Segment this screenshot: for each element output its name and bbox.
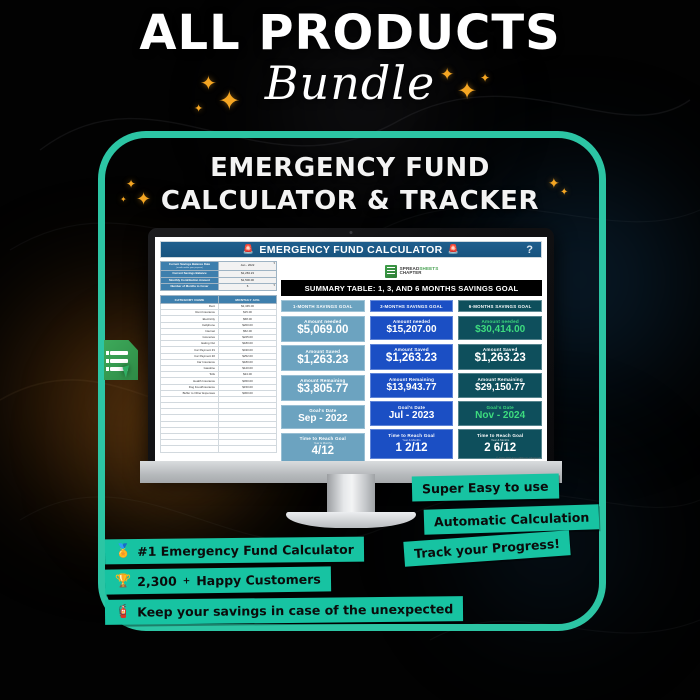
- summary-metric-cell: Amount Saved$1,263.23: [370, 344, 454, 370]
- sheets-document-icon: [104, 340, 138, 380]
- category-header-name: CATEGORY NAME: [161, 296, 219, 304]
- summary-column: SPREADSHEETS CHAPTER SUMMARY TABLE: 1, 3…: [281, 261, 542, 462]
- badge-plus-sign: +: [183, 576, 191, 586]
- summary-metric-subcaption: Year & Months: [371, 438, 453, 442]
- logo-line2: CHAPTER: [400, 271, 439, 275]
- balance-label: Monthly Contribution Amount: [161, 277, 219, 284]
- brand-logo-text: SPREADSHEETS CHAPTER: [400, 267, 439, 276]
- siren-icon: 🚨: [243, 244, 255, 255]
- hero-script-word: Bundle: [0, 56, 700, 110]
- balance-row: Current Savings Balance$1,263.23: [161, 271, 277, 278]
- monitor-screen: 🚨 EMERGENCY FUND CALCULATOR 🚨 ? Current …: [155, 237, 547, 462]
- balance-value[interactable]: $1,500.00: [219, 277, 277, 284]
- poster-canvas: ALL PRODUCTS Bundle ✦ ✦ ✦ ✦ ✦ ✦ EMERGENC…: [0, 0, 700, 700]
- badge-label: Track your Progress!: [414, 536, 561, 561]
- summary-card-heading: 3-MONTHS SAVINGS GOAL: [370, 300, 454, 312]
- balance-input-panel: Current Savings Balance Date(month and/o…: [160, 261, 277, 291]
- badge-super-easy: Super Easy to use: [412, 473, 559, 501]
- summary-metric-value: $15,207.00: [371, 324, 453, 336]
- summary-metric-value: Jul - 2023: [371, 410, 453, 422]
- summary-metric-value: 2 6/12: [459, 442, 541, 455]
- summary-metric-cell: Time to Reach GoalYear & Months4/12: [281, 433, 365, 462]
- spreadsheet-body: Current Savings Balance Date(month and/o…: [155, 261, 547, 462]
- balance-label-sub: (month and/or year purpose): [162, 267, 217, 270]
- summary-metric-cell: Amount needed$15,207.00: [370, 316, 454, 341]
- summary-metric-cell: Amount Saved$1,263.23: [458, 344, 542, 370]
- summary-metric-cell: Goal's DateJul - 2023: [370, 401, 454, 426]
- logo-line1b: SHEETS: [419, 266, 438, 271]
- summary-card-heading: 6-MONTHS SAVINGS GOAL: [458, 300, 542, 312]
- summary-metric-value: $3,805.77: [282, 383, 364, 396]
- badge-label: #1 Emergency Fund Calculator: [137, 542, 354, 559]
- trophy-icon: 🏆: [115, 574, 131, 589]
- badge-customer-count: 2,300: [137, 574, 177, 590]
- summary-metric-value: $5,069.00: [282, 324, 364, 337]
- badge-keep-savings: 🧯 Keep your savings in case of the unexp…: [105, 596, 464, 625]
- product-title-line1: EMERGENCY FUND: [0, 152, 700, 185]
- summary-metric-value: $1,263.23: [371, 352, 453, 365]
- product-title: EMERGENCY FUND CALCULATOR & TRACKER: [0, 152, 700, 217]
- category-table: CATEGORY NAME MONTHLY AVG Rent$2,345.00R…: [160, 295, 277, 453]
- balance-label: Current Savings Balance: [161, 271, 219, 278]
- summary-metric-value: Nov - 2024: [459, 410, 541, 422]
- summary-metric-subcaption: Year & Months: [459, 438, 541, 442]
- summary-metric-value: $13,943.77: [371, 382, 453, 394]
- summary-card-column: 1-MONTH SAVINGS GOALAmount needed$5,069.…: [281, 300, 365, 462]
- brand-logo: SPREADSHEETS CHAPTER: [281, 262, 542, 280]
- summary-metric-value: $1,263.23: [459, 352, 541, 365]
- category-header-amount: MONTHLY AVG: [219, 296, 277, 304]
- summary-metric-cell: Goal's DateNov - 2024: [458, 401, 542, 426]
- summary-metric-cell: Amount needed$30,414.00: [458, 316, 542, 341]
- siren-icon: 🚨: [448, 244, 460, 255]
- help-button[interactable]: ?: [526, 244, 533, 256]
- summary-card-column: 3-MONTHS SAVINGS GOALAmount needed$15,20…: [370, 300, 454, 462]
- badge-label: Super Easy to use: [422, 479, 549, 497]
- monitor-mockup: 🚨 EMERGENCY FUND CALCULATOR 🚨 ? Current …: [148, 228, 554, 474]
- balance-label: Number of Months to Cover: [161, 284, 219, 291]
- badge-label: Happy Customers: [196, 572, 321, 589]
- summary-metric-cell: Amount Remaining$13,943.77: [370, 373, 454, 398]
- summary-cards-grid: 1-MONTH SAVINGS GOALAmount needed$5,069.…: [281, 300, 542, 462]
- summary-metric-cell: Time to Reach GoalYear & Months1 2/12: [370, 429, 454, 459]
- balance-value-select[interactable]: 6: [219, 284, 277, 291]
- table-row-empty: [161, 446, 277, 452]
- summary-metric-cell: Amount Remaining$29,150.77: [458, 373, 542, 398]
- badge-label: Automatic Calculation: [434, 510, 590, 530]
- summary-card-column: 6-MONTHS SAVINGS GOALAmount needed$30,41…: [458, 300, 542, 462]
- balance-value-select[interactable]: Jan - 2022: [219, 262, 277, 271]
- summary-metric-cell: Amount Saved$1,263.23: [281, 345, 365, 371]
- summary-metric-value: 4/12: [282, 445, 364, 458]
- summary-metric-value: $1,263.23: [282, 354, 364, 367]
- summary-metric-cell: Time to Reach GoalYear & Months2 6/12: [458, 429, 542, 459]
- summary-metric-value: 1 2/12: [371, 442, 453, 455]
- summary-metric-value: $29,150.77: [459, 382, 541, 394]
- badge-happy-customers: 🏆 2,300+ Happy Customers: [105, 566, 331, 594]
- spreadsheet-title-bar: 🚨 EMERGENCY FUND CALCULATOR 🚨 ?: [160, 241, 542, 258]
- balance-row: Number of Months to Cover6: [161, 284, 277, 291]
- medal-icon: 🏅: [115, 544, 131, 559]
- product-title-line2: CALCULATOR & TRACKER: [0, 185, 700, 218]
- category-name-cell: [161, 446, 219, 452]
- spreadsheet-title: EMERGENCY FUND CALCULATOR: [259, 244, 442, 256]
- spreadsheet-app: 🚨 EMERGENCY FUND CALCULATOR 🚨 ? Current …: [155, 241, 547, 462]
- badge-number-one-calculator: 🏅 #1 Emergency Fund Calculator: [105, 537, 364, 565]
- summary-metric-value: Sep - 2022: [282, 413, 364, 425]
- category-amount-cell: [219, 446, 277, 452]
- google-sheets-icon[interactable]: [104, 340, 138, 380]
- balance-row: Monthly Contribution Amount$1,500.00: [161, 277, 277, 284]
- balance-label: Current Savings Balance Date(month and/o…: [161, 262, 219, 271]
- summary-metric-cell: Amount Remaining$3,805.77: [281, 375, 365, 401]
- hero-line1: ALL PRODUCTS: [0, 8, 700, 58]
- balance-row: Current Savings Balance Date(month and/o…: [161, 262, 277, 271]
- summary-metric-value: $30,414.00: [459, 324, 541, 336]
- left-input-column: Current Savings Balance Date(month and/o…: [160, 261, 277, 462]
- monitor-stand-neck: [327, 474, 375, 516]
- summary-table-banner: SUMMARY TABLE: 1, 3, AND 6 MONTHS SAVING…: [281, 280, 542, 296]
- extinguisher-icon: 🧯: [115, 605, 131, 620]
- summary-metric-subcaption: Year & Months: [282, 441, 364, 445]
- webcam-dot-icon: [350, 231, 353, 234]
- summary-card-heading: 1-MONTH SAVINGS GOAL: [281, 300, 365, 312]
- hero-title-block: ALL PRODUCTS Bundle: [0, 8, 700, 110]
- balance-value[interactable]: $1,263.23: [219, 271, 277, 278]
- badge-label: Keep your savings in case of the unexpec…: [137, 601, 453, 619]
- spreadsheet-logo-icon: [385, 265, 397, 278]
- summary-metric-cell: Goal's DateSep - 2022: [281, 405, 365, 430]
- summary-metric-cell: Amount needed$5,069.00: [281, 316, 365, 342]
